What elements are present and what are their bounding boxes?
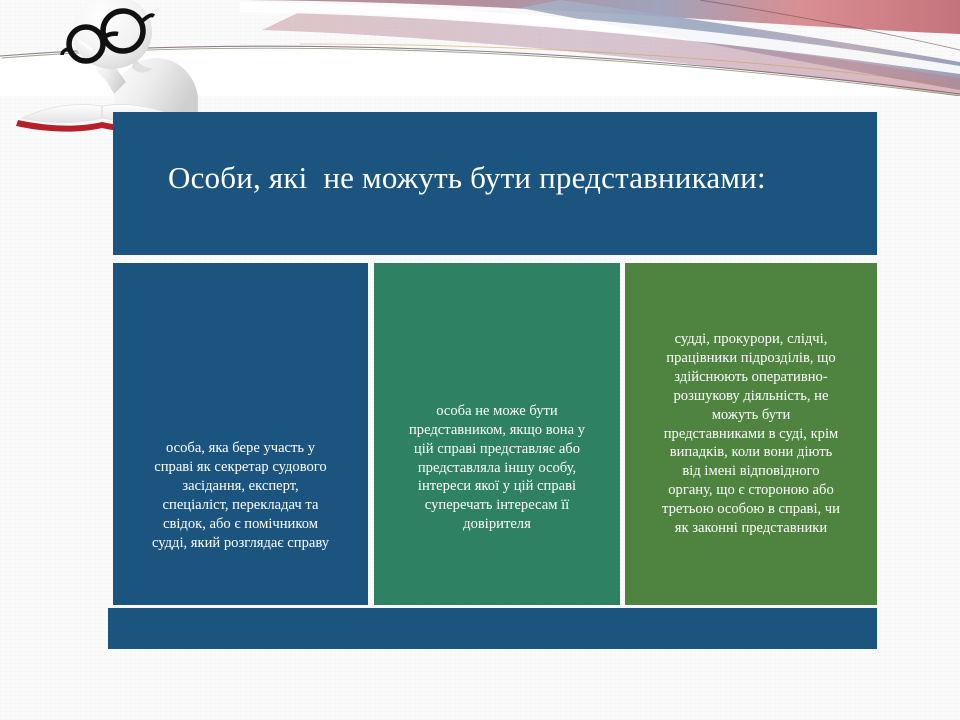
content-column-2-text: особа не може бути представником, якщо в… bbox=[409, 402, 585, 535]
page-title: Особи, які не можуть бути представниками… bbox=[168, 160, 868, 196]
title-panel: Особи, які не можуть бути представниками… bbox=[113, 112, 877, 255]
content-column-2[interactable]: особа не може бути представником, якщо в… bbox=[374, 263, 620, 605]
columns-container: особа, яка бере участь у справі як секре… bbox=[113, 263, 877, 605]
content-column-3-text: судді, прокурори, слідчі, працівники під… bbox=[662, 330, 840, 539]
slide-canvas: Особи, які не можуть бути представниками… bbox=[0, 0, 960, 720]
bottom-accent-bar bbox=[108, 608, 877, 649]
content-column-1[interactable]: особа, яка бере участь у справі як секре… bbox=[113, 263, 368, 605]
content-column-3[interactable]: судді, прокурори, слідчі, працівники під… bbox=[625, 263, 877, 605]
content-column-1-text: особа, яка бере участь у справі як секре… bbox=[152, 439, 329, 553]
